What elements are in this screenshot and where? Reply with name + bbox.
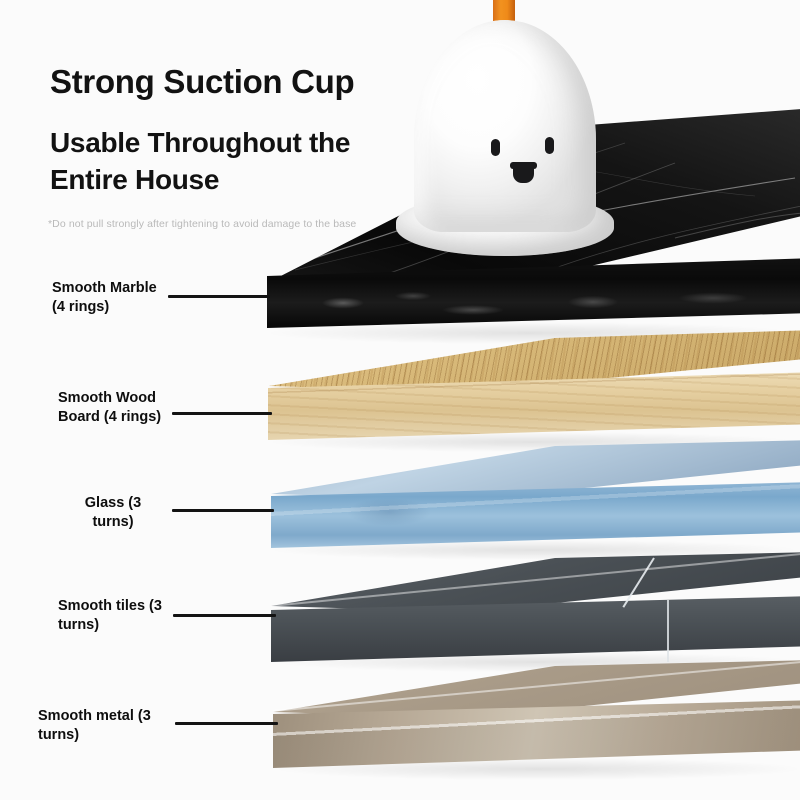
suction-cup-product [398, 0, 613, 266]
cup-eye-right-icon [545, 137, 554, 154]
callout-tiles: Smooth tiles (3 turns) [58, 597, 178, 635]
surface-slab-wood [255, 330, 800, 450]
surface-slab-metal [255, 660, 800, 785]
surface-slab-tiles [255, 552, 800, 672]
cup-eye-left-icon [491, 139, 500, 156]
leader-line-marble [168, 295, 270, 298]
cup-mouth-icon [513, 162, 534, 183]
leader-line-metal [175, 722, 278, 725]
callout-glass: Glass (3 turns) [70, 494, 156, 532]
leader-line-glass [172, 509, 274, 512]
leader-line-wood [172, 412, 272, 415]
leader-line-tiles [173, 614, 276, 617]
callout-metal: Smooth metal (3 turns) [38, 707, 173, 745]
callout-metal-line2: turns) [38, 726, 173, 745]
product-infographic: Strong Suction Cup Usable Throughout the… [0, 0, 800, 800]
callout-marble: Smooth Marble (4 rings) [52, 279, 157, 317]
page-title: Strong Suction Cup [50, 64, 354, 100]
callout-tiles-line2: turns) [58, 616, 178, 635]
callout-glass-line1: Glass (3 [70, 494, 156, 513]
callout-wood-line1: Smooth Wood [58, 389, 161, 408]
callout-wood: Smooth Wood Board (4 rings) [58, 389, 161, 427]
callout-marble-line1: Smooth Marble [52, 279, 157, 298]
surface-slab-glass [255, 440, 800, 555]
callout-metal-line1: Smooth metal (3 [38, 707, 173, 726]
callout-marble-line2: (4 rings) [52, 298, 157, 317]
cup-dome-body [414, 20, 596, 232]
callout-tiles-line1: Smooth tiles (3 [58, 597, 178, 616]
callout-glass-line2: turns) [70, 513, 156, 532]
tile-grout-seam-front [667, 600, 669, 662]
callout-wood-line2: Board (4 rings) [58, 408, 161, 427]
